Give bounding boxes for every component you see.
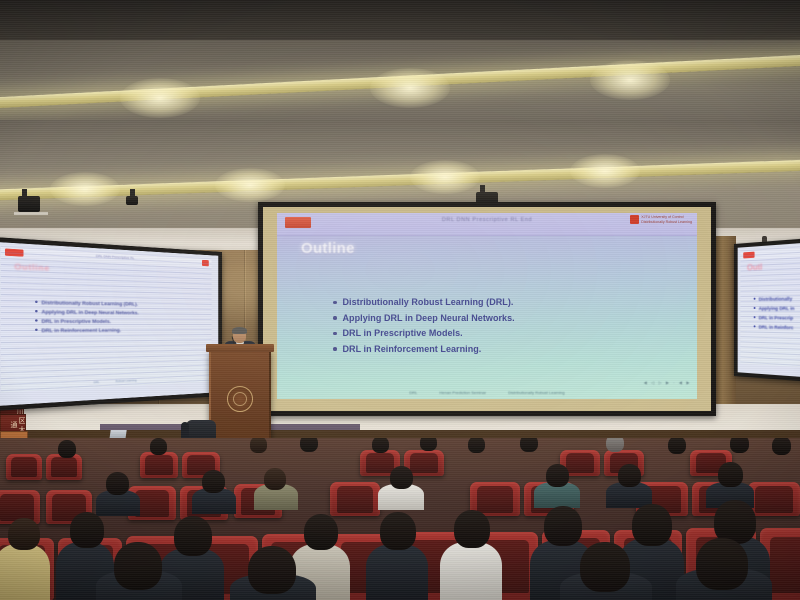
bullet-dot-icon [35,319,38,321]
audience-head [202,470,225,493]
audience-head [454,510,490,548]
list-item: Applying DRL in Deep Neural Networks. [333,313,515,323]
university-seal-emblem-icon [227,386,253,412]
auditorium-seat [6,454,42,480]
university-logo-text: XJTU University of Control Distributiona… [641,215,692,223]
bullet-dot-icon [333,332,337,336]
side-projection-screen-right: DRL Outl Distributionally Applying DRL i… [734,237,800,383]
audience-head [248,546,296,594]
university-logo-line2: Distributionally Robust Learning [641,220,692,224]
audience-head [380,512,416,550]
auditorium-seat [330,482,380,516]
audience-head [618,464,641,487]
list-item: DRL in Prescriptive Models. [333,328,515,338]
lectern-top-surface [206,344,274,352]
audience-head [150,438,167,455]
lecture-hall-photo: 大 樓 通 知 川 川 区 大 通 活 動 DRL DNN Prescripti… [0,0,800,600]
side-slide-right-title: Outl [747,262,762,272]
list-item: Applying DRL in Deep Neural Networks. [35,309,139,316]
side-slide-left-footer: DRL Robust Learning [1,375,212,388]
list-item: Applying DRL in [754,306,795,311]
slide-bullet-list: Distributionally Robust Learning (DRL). … [333,297,515,359]
bullet-dot-icon [754,298,756,300]
audience-head [520,438,538,452]
audience-shoulders [0,544,50,600]
audience-head [106,472,129,495]
list-item: Distributionally Robust Learning (DRL). [333,297,515,307]
side-slide-left: DRL DNN Prescriptive RL Outline Distribu… [1,246,212,393]
audience-head [718,462,743,487]
audience-head [632,504,672,546]
bullet-dot-icon [35,301,38,303]
list-item-label: DRL in Reinforcement Learning. [41,327,121,333]
audience-head [114,542,162,590]
audience-shoulders [440,542,502,600]
audience-head [606,438,624,452]
audience-head [372,438,389,453]
auditorium-seat [140,452,178,478]
slide-page-navigation[interactable]: ◀ ◁ ▷ ▶ · ◀ ▶ [644,380,691,385]
audience-head [304,514,338,550]
slide-footer-right: Distributionally Robust Learning [508,390,564,395]
list-item: DRL in Reinforcement Learning. [35,327,139,333]
list-item-label: DRL in Reinforc [759,324,794,330]
list-item-label: DRL in Prescriptive Models. [343,328,463,338]
university-mark-icon [630,215,639,224]
lectern-podium [209,350,271,448]
projector-mount-plate-left [14,212,48,215]
speaker-hair [232,327,247,334]
audience-head [668,438,686,454]
ceiling-projector-left [18,196,40,212]
side-projection-screen-left: DRL DNN Prescriptive RL Outline Distribu… [0,237,222,411]
list-item-label: Applying DRL in [759,306,795,311]
audience-head [772,438,791,455]
list-item: Distributionally [754,296,795,302]
list-item: DRL in Prescrip [754,315,795,321]
list-item: DRL in Reinforc [754,324,795,330]
presentation-slide: DRL DNN Prescriptive RL End XJTU Univers… [277,213,697,399]
side-slide-right-topbar: DRL [740,245,800,261]
audience-head [390,466,413,489]
ceiling-camera [126,196,138,205]
slide-footer: DRL Henan Prediction Seminar Distributio… [277,390,697,395]
list-item: DRL in Reinforcement Learning. [333,344,515,354]
list-item-label: Distributionally Robust Learning (DRL). [41,300,138,307]
slide-footer-left: DRL [409,390,417,395]
list-item-label: DRL in Prescrip [759,315,794,321]
audience-head [546,464,569,487]
audience-head [70,512,104,548]
ceiling-upper-dark-band [0,0,800,40]
main-projection-screen: DRL DNN Prescriptive RL End XJTU Univers… [258,202,716,416]
bullet-dot-icon [333,347,337,351]
slide-university-logo: XJTU University of Control Distributiona… [630,215,692,224]
side-slide-left-title: Outline [14,263,50,273]
side-slide-right-logo-icon [743,252,754,259]
list-item: DRL in Prescriptive Models. [35,318,139,324]
bullet-dot-icon [35,329,38,331]
list-item-label: DRL in Prescriptive Models. [41,318,110,324]
audience-head [730,438,749,453]
audience-seating-area [0,438,800,600]
audience-head [580,542,630,592]
audience-head [8,518,40,550]
side-slide-right: DRL Outl Distributionally Applying DRL i… [740,245,800,368]
bullet-dot-icon [333,301,337,305]
list-item: Distributionally Robust Learning (DRL). [35,299,139,306]
slide-title: Outline [301,240,355,257]
list-item-label: DRL in Reinforcement Learning. [343,344,482,354]
side-slide-left-navtext: DRL DNN Prescriptive RL [1,248,212,264]
audience-head [696,538,748,590]
side-slide-left-footer-right: Robust Learning [116,379,137,383]
list-item-label: Distributionally Robust Learning (DRL). [343,297,514,307]
audience-head [250,438,267,453]
list-item-label: Applying DRL in Deep Neural Networks. [343,313,515,323]
bullet-dot-icon [754,325,756,327]
side-slide-left-footer-left: DRL [94,381,100,385]
audience-head [300,438,318,452]
bullet-dot-icon [35,310,38,312]
audience-head [58,440,76,458]
slide-topbar: DRL DNN Prescriptive RL End XJTU Univers… [277,213,697,236]
side-slide-right-bullet-list: Distributionally Applying DRL in DRL in … [754,296,795,335]
slide-footer-center: Henan Prediction Seminar [439,390,486,395]
list-item-label: Distributionally [759,296,793,302]
audience-head [544,506,582,546]
bullet-dot-icon [333,316,337,320]
audience-head [174,516,212,556]
list-item-label: Applying DRL in Deep Neural Networks. [41,309,138,316]
side-slide-left-bullet-list: Distributionally Robust Learning (DRL). … [35,299,139,336]
audience-head [468,438,485,453]
audience-head [264,468,286,490]
auditorium-seat [748,482,800,516]
bullet-dot-icon [754,307,756,309]
side-slide-left-logo-right-icon [202,260,209,266]
audience-shoulders [366,544,428,600]
bullet-dot-icon [754,316,756,318]
audience-head [420,438,437,451]
